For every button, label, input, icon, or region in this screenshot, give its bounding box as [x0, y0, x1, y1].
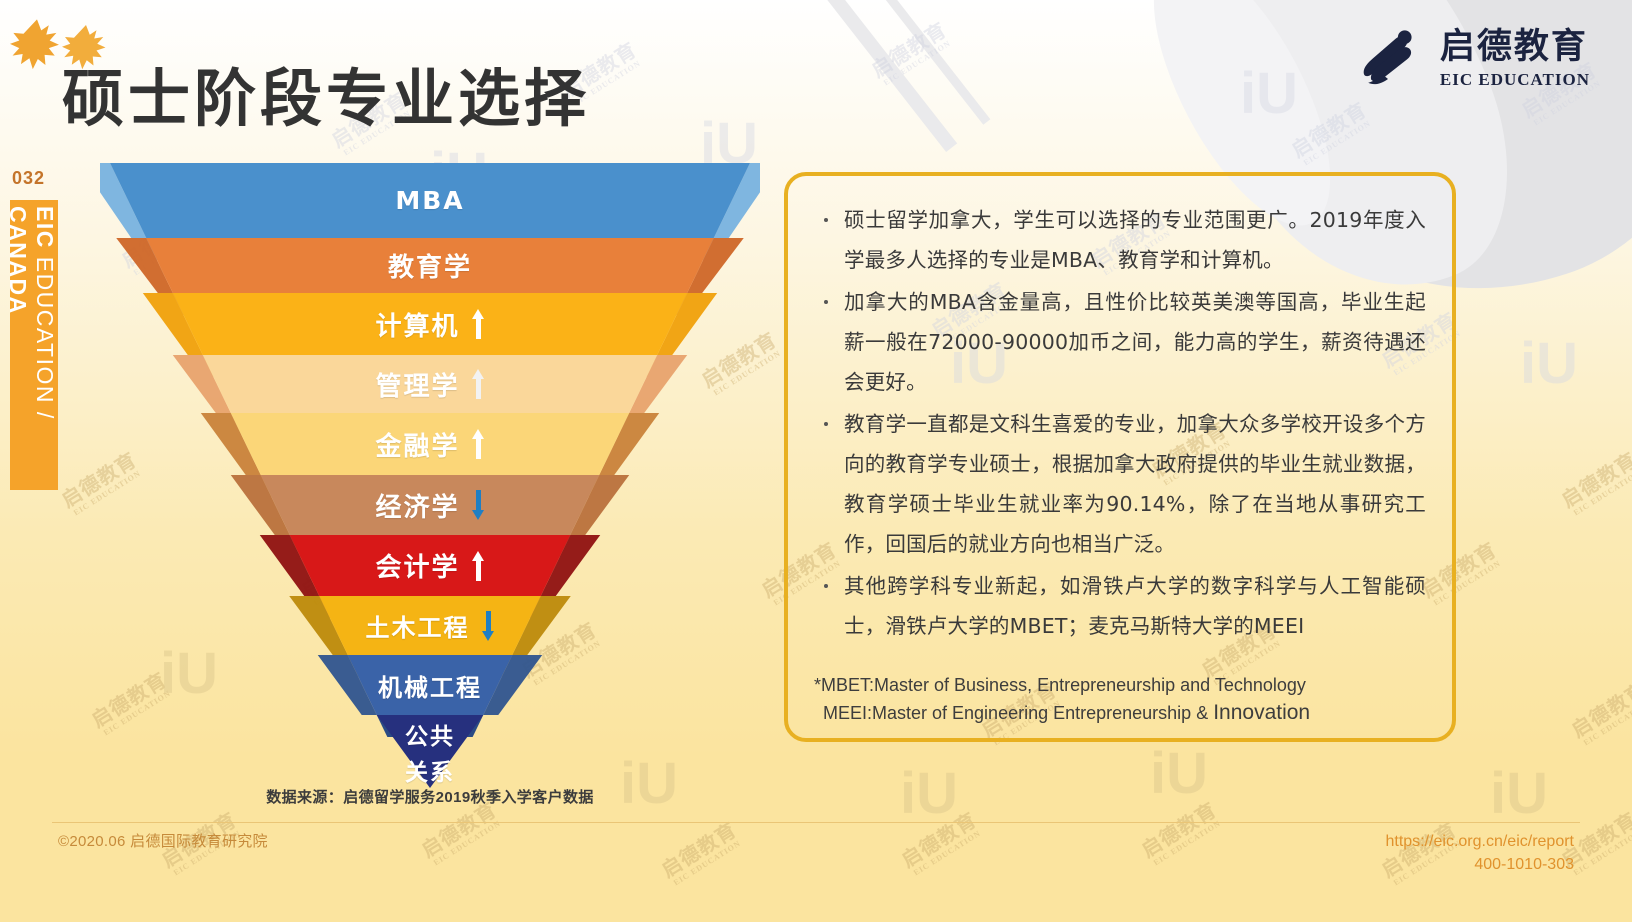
watermark-mark: iU [1520, 330, 1578, 397]
funnel-label-text: 教育学 [388, 247, 472, 284]
watermark-text: 启德教育EIC EDUCATION [1559, 450, 1632, 519]
funnel-label-text: 机械工程 [378, 668, 482, 703]
funnel-layer-label: MBA [100, 163, 760, 238]
slide-canvas: 启德教育EIC EDUCATION启德教育EIC EDUCATION启德教育EI… [0, 0, 1632, 922]
side-tab-primary: EIC [32, 206, 58, 249]
watermark-text: 启德教育EIC EDUCATION [659, 820, 746, 889]
decorative-stripe-1 [817, 0, 957, 152]
footer-phone: 400-1010-303 [1385, 853, 1574, 876]
funnel-layer-label: 机械工程 [100, 655, 760, 715]
watermark-text: 启德教育EIC EDUCATION [1569, 680, 1632, 749]
maple-leaf-icon-1 [10, 16, 64, 70]
funnel-layer-label: 金融学 [100, 413, 760, 475]
trend-up-arrow-icon [472, 429, 485, 459]
funnel-label-line: 公共 [405, 717, 455, 751]
funnel-layer-label: 公共关系 [100, 715, 760, 798]
watermark-text: 启德教育EIC EDUCATION [1139, 800, 1226, 869]
funnel-layer-label: 管理学 [100, 355, 760, 413]
watermark-text: 启德教育EIC EDUCATION [419, 800, 506, 869]
watermark-mark: iU [1150, 740, 1208, 807]
funnel-layer-label: 土木工程 [100, 596, 760, 655]
funnel-label-text: 金融学 [375, 426, 459, 463]
funnel-label-text: MBA [395, 186, 464, 215]
footnote-line-2-emphasis: Innovation [1213, 701, 1310, 724]
funnel-label-text: 土木工程 [366, 608, 470, 643]
footer-url-link[interactable]: https://eic.org.cn/eic/report [1385, 830, 1574, 853]
trend-down-arrow-icon [482, 611, 495, 641]
logo-text-en: EIC EDUCATION [1440, 70, 1590, 90]
side-tab-country: CANADA [5, 206, 31, 315]
footnote-line-2-prefix: MEEI:Master of Engineering Entrepreneurs… [823, 703, 1213, 723]
footnote-line-1: *MBET:Master of Business, Entrepreneursh… [814, 672, 1426, 699]
footer-contact: https://eic.org.cn/eic/report 400-1010-3… [1385, 830, 1574, 876]
footnote-block: *MBET:Master of Business, Entrepreneursh… [814, 672, 1426, 727]
trend-up-arrow-icon [472, 551, 485, 581]
trend-up-arrow-icon [472, 309, 485, 339]
footnote-line-2: MEEI:Master of Engineering Entrepreneurs… [814, 699, 1426, 727]
eic-logo-mark-icon [1350, 22, 1426, 98]
watermark-mark: iU [900, 760, 958, 827]
page-title: 硕士阶段专业选择 [62, 48, 590, 138]
side-tab-secondary: EDUCATION / [32, 249, 58, 420]
watermark-mark: iU [1240, 60, 1298, 127]
bullet-item: 硕士留学加拿大，学生可以选择的专业范围更广。2019年度入学最多人选择的专业是M… [814, 200, 1426, 280]
watermark-mark: iU [1490, 760, 1548, 827]
side-tab-canada: EIC EDUCATION / CANADA [10, 200, 58, 490]
copyright-text: ©2020.06 启德国际教育研究院 [58, 830, 268, 851]
funnel-layer-label: 计算机 [100, 293, 760, 355]
content-card: 硕士留学加拿大，学生可以选择的专业范围更广。2019年度入学最多人选择的专业是M… [784, 172, 1456, 742]
funnel-layer-label: 经济学 [100, 475, 760, 535]
trend-down-arrow-icon [472, 490, 485, 520]
funnel-label-text: 经济学 [375, 487, 459, 524]
funnel-layer[interactable]: 公共关系 [100, 715, 760, 810]
funnel-label-text: 计算机 [375, 306, 459, 343]
watermark-text: 启德教育EIC EDUCATION [899, 810, 986, 879]
funnel-label-text: 管理学 [375, 366, 459, 403]
logo-text-cn: 启德教育 [1440, 30, 1590, 65]
bullet-list: 硕士留学加拿大，学生可以选择的专业范围更广。2019年度入学最多人选择的专业是M… [814, 200, 1426, 646]
brand-logo: 启德教育 EIC EDUCATION [1350, 22, 1590, 98]
funnel-chart: MBA教育学计算机管理学金融学经济学会计学土木工程机械工程公共关系 [100, 163, 760, 788]
funnel-layer-label: 会计学 [100, 535, 760, 596]
funnel-label-text: 会计学 [375, 547, 459, 584]
footer-divider [52, 822, 1580, 823]
funnel-layer-label: 教育学 [100, 238, 760, 293]
bullet-item: 教育学一直都是文科生喜爱的专业，加拿大众多学校开设多个方向的教育学专业硕士，根据… [814, 404, 1426, 564]
funnel-label-line: 关系 [405, 753, 455, 787]
bullet-item: 加拿大的MBA含金量高，且性价比较英美澳等国高，毕业生起薪一般在72000-90… [814, 282, 1426, 402]
trend-up-arrow-icon [472, 369, 485, 399]
decorative-stripe-2 [879, 0, 991, 125]
watermark-text: 启德教育EIC EDUCATION [1289, 100, 1376, 169]
page-number: 032 [12, 168, 45, 189]
bullet-item: 其他跨学科专业新起，如滑铁卢大学的数字科学与人工智能硕士，滑铁卢大学的MBET；… [814, 566, 1426, 646]
